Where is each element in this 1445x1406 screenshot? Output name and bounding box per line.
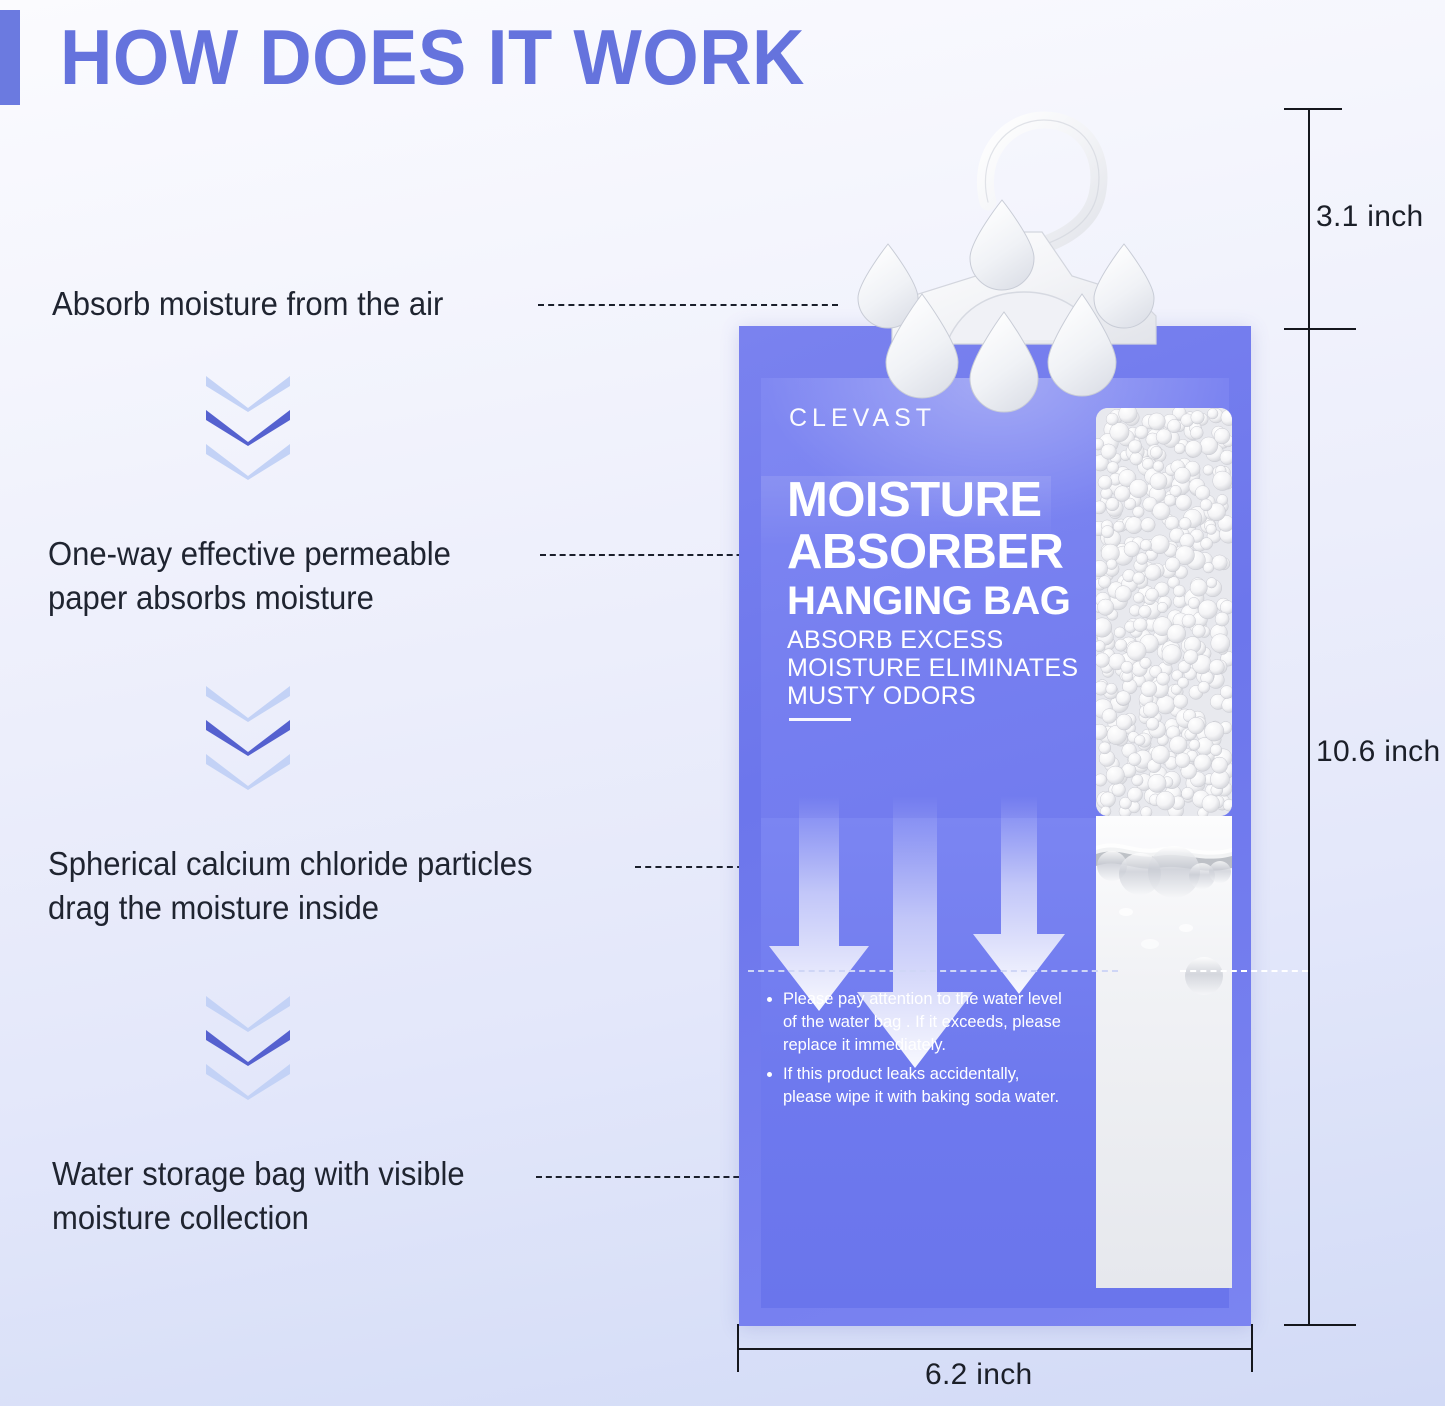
callout-absorb-air: Absorb moisture from the air — [52, 282, 443, 326]
dimension-tick-mid — [1284, 328, 1356, 330]
chevron-down-icon — [202, 440, 294, 480]
callout-particles-line2: drag the moisture inside — [48, 886, 532, 930]
dimension-tick-right — [1251, 1324, 1253, 1372]
callout-particles-line1: Spherical calcium chloride particles — [48, 842, 532, 886]
dimension-label-top-height: 3.1 inch — [1316, 200, 1423, 234]
dimension-tick-bottom — [1284, 1324, 1356, 1326]
water-droplets-icon — [836, 104, 1212, 424]
tagline-line-2: MOISTURE ELIMINATES — [787, 654, 1078, 682]
callout-absorb-air-line1: Absorb moisture from the air — [52, 282, 443, 326]
headline-line-2: ABSORBER — [787, 526, 1070, 578]
page-title: HOW DOES IT WORK — [60, 14, 805, 100]
chevron-group-1 — [202, 372, 294, 474]
tagline-line-1: ABSORB EXCESS — [787, 626, 1078, 654]
dimension-line-top-vertical — [1308, 108, 1310, 330]
callout-particles: Spherical calcium chloride particles dra… — [48, 842, 532, 930]
leader-line-permeable — [540, 554, 772, 556]
callout-permeable: One-way effective permeable paper absorb… — [48, 532, 451, 620]
warning-item: If this product leaks accidentally, plea… — [783, 1063, 1063, 1109]
headline-line-3: HANGING BAG — [787, 578, 1070, 624]
water-storage-window — [1096, 816, 1232, 1288]
dimension-label-width: 6.2 inch — [925, 1358, 1032, 1392]
callout-permeable-line2: paper absorbs moisture — [48, 576, 451, 620]
warning-item: Please pay attention to the water level … — [783, 988, 1063, 1057]
water-level-guide-right — [1180, 970, 1308, 972]
package-warning-list: Please pay attention to the water level … — [763, 988, 1063, 1115]
chevron-group-3 — [202, 992, 294, 1094]
bead-cluster-icon — [1096, 408, 1232, 816]
package-headline: MOISTURE ABSORBER HANGING BAG — [787, 474, 1070, 624]
chevron-down-icon — [202, 750, 294, 790]
callout-water-storage: Water storage bag with visible moisture … — [52, 1152, 465, 1240]
dimension-tick-top — [1284, 108, 1342, 110]
dimension-label-body-height: 10.6 inch — [1316, 735, 1440, 769]
title-accent-bar — [0, 10, 20, 105]
chevron-group-2 — [202, 682, 294, 784]
dimension-tick-left — [737, 1324, 739, 1372]
dimension-line-body-vertical — [1308, 330, 1310, 1326]
package-tagline: ABSORB EXCESS MOISTURE ELIMINATES MUSTY … — [787, 626, 1078, 710]
water-level-guide-left — [748, 970, 1118, 972]
callout-water-storage-line2: moisture collection — [52, 1196, 465, 1240]
headline-line-1: MOISTURE — [787, 474, 1070, 526]
product-package: CLEVAST MOISTURE ABSORBER HANGING BAG AB… — [739, 326, 1251, 1326]
infographic-canvas: HOW DOES IT WORK Absorb moisture from th… — [0, 0, 1445, 1406]
callout-water-storage-line1: Water storage bag with visible — [52, 1152, 465, 1196]
dimension-line-width — [739, 1348, 1253, 1350]
tagline-divider — [789, 718, 851, 721]
calcium-chloride-bead-window — [1096, 408, 1232, 816]
water-collection-icon — [1096, 816, 1232, 1288]
leader-line-absorb-air — [538, 304, 838, 306]
chevron-down-icon — [202, 1060, 294, 1100]
tagline-line-3: MUSTY ODORS — [787, 682, 1078, 710]
callout-permeable-line1: One-way effective permeable — [48, 532, 451, 576]
